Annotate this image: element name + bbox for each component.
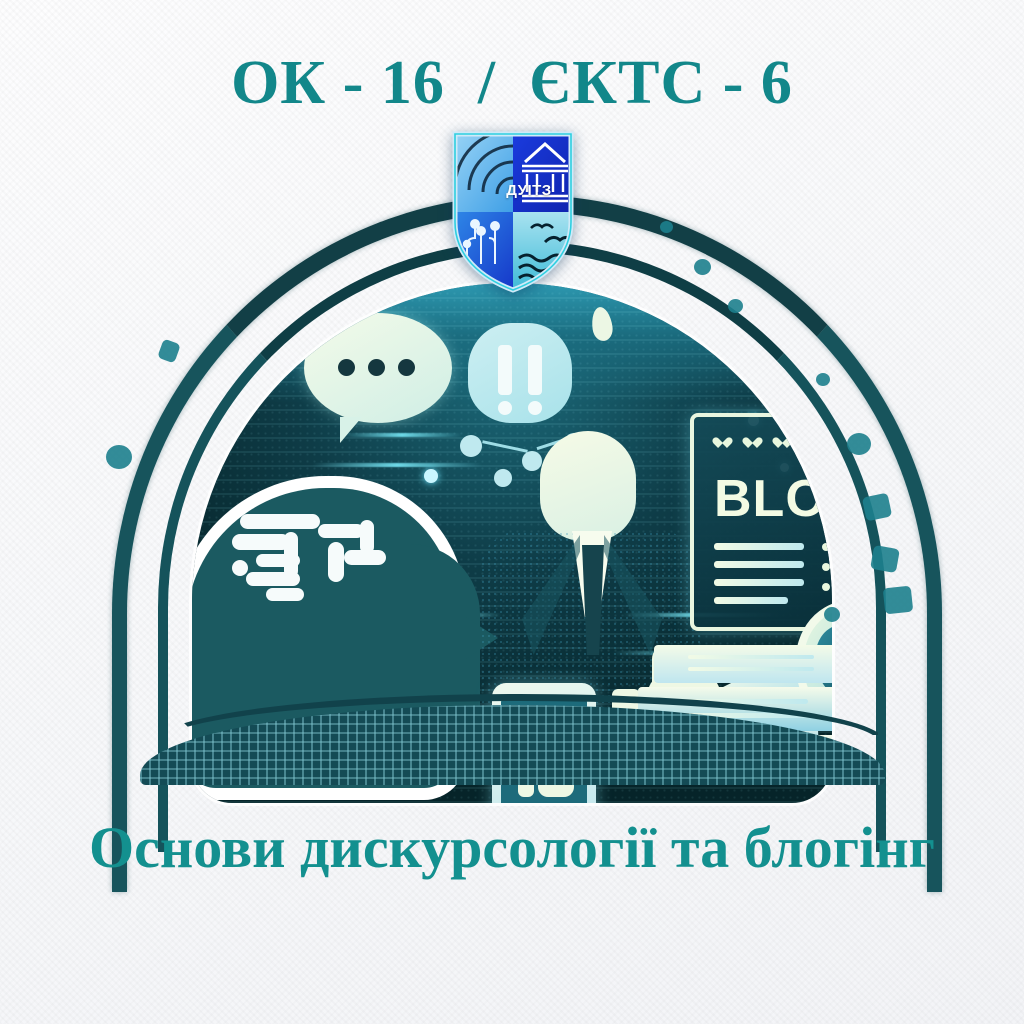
- brain-icon: [232, 514, 402, 624]
- glow-streak: [312, 463, 482, 467]
- circuit-node: [424, 469, 438, 483]
- blog-panel-title: BLOG: [714, 473, 832, 525]
- network-node: [460, 435, 482, 457]
- network-node: [494, 469, 512, 487]
- decorative-fragment: [660, 221, 673, 233]
- shield-graphic: [449, 126, 577, 294]
- network-node: [522, 451, 542, 471]
- heart-icon: [776, 433, 789, 445]
- decorative-fragment: [694, 259, 711, 275]
- decorative-fragment: [847, 433, 871, 455]
- decorative-fragment: [106, 445, 132, 469]
- decorative-fragment: [816, 373, 830, 386]
- book-icon: [654, 645, 832, 683]
- course-code-heading: ОК - 16 / ЄКТС - 6: [0, 52, 1024, 114]
- speech-bubble-dots-icon: [304, 313, 452, 423]
- poster-canvas: ОК - 16 / ЄКТС - 6: [0, 0, 1024, 1024]
- platform-base: [140, 705, 885, 785]
- heart-icon: [746, 433, 759, 445]
- decorative-fragment: [883, 586, 914, 615]
- decorative-fragment: [728, 299, 743, 313]
- course-title-heading: Основи дискурсології та блогінг: [0, 818, 1024, 879]
- quotation-bubble-icon: [468, 323, 572, 423]
- decorative-fragment: [870, 545, 900, 573]
- heart-icon: [806, 433, 819, 445]
- shield-abbreviation: ДУІТЗ: [465, 182, 593, 199]
- university-shield-emblem: ДУІТЗ: [449, 126, 577, 294]
- heart-icon: [716, 433, 729, 445]
- blog-screen-panel: BLOG: [690, 413, 832, 631]
- speaker-head: [540, 431, 636, 541]
- decorative-fragment: [157, 339, 181, 364]
- platform-texture: [140, 705, 885, 785]
- decorative-fragment: [862, 493, 892, 522]
- decorative-fragment: [824, 607, 840, 622]
